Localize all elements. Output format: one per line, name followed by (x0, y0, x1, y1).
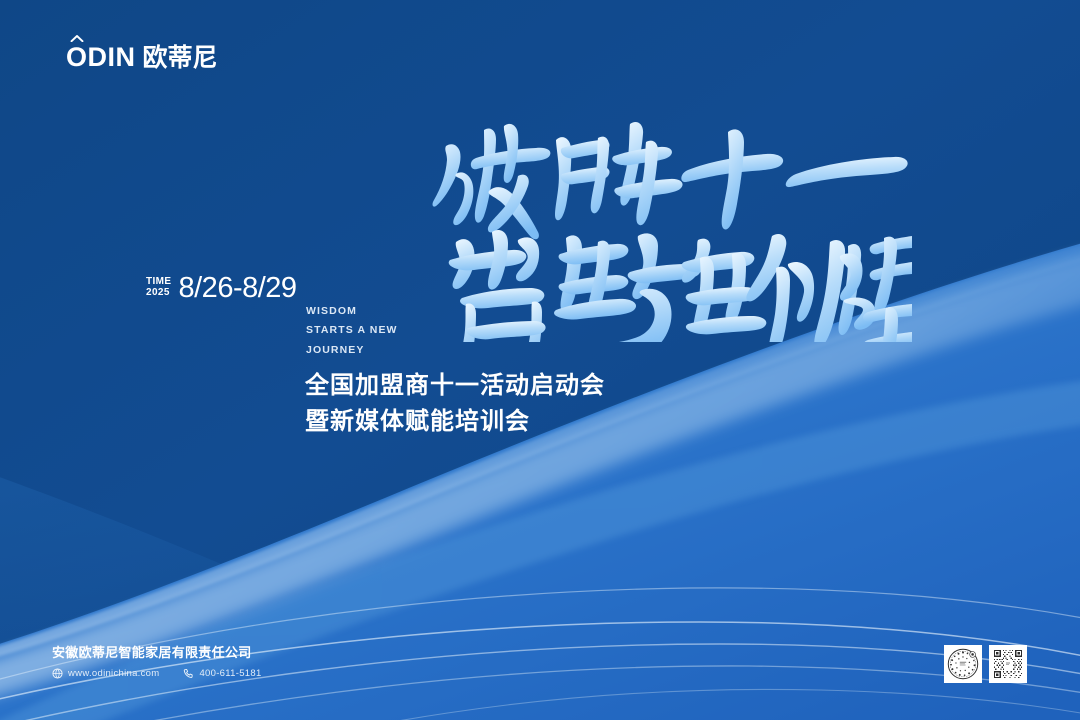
event-poster: O DIN 欧蒂尼 (0, 0, 1080, 720)
tagline-line-1: WISDOM (306, 302, 398, 321)
macron-accent-icon (70, 35, 83, 42)
circular-qr-icon (947, 648, 979, 680)
time-label-year: 2025 (146, 287, 172, 298)
square-qr-icon (992, 648, 1024, 680)
time-label: TIME 2025 (146, 276, 172, 301)
event-date-block: TIME 2025 8/26-8/29 (146, 274, 297, 303)
qr-code-group (944, 645, 1027, 683)
website-text: www.odinichina.com (68, 668, 159, 679)
event-subtitle: 全国加盟商十一活动启动会 暨新媒体赋能培训会 (305, 368, 605, 441)
tagline-line-2: STARTS A NEW (306, 321, 398, 340)
logo-latin-text: O DIN (66, 44, 136, 71)
website-item[interactable]: www.odinichina.com (52, 668, 159, 679)
main-title-calligraphy (432, 112, 912, 342)
brand-logo: O DIN 欧蒂尼 (66, 44, 218, 71)
phone-item[interactable]: 400-611-5181 (183, 668, 261, 679)
background-artwork (0, 0, 1080, 720)
logo-latin-rest: DIN (88, 42, 136, 72)
subtitle-line-1: 全国加盟商十一活动启动会 (305, 368, 605, 404)
globe-icon (52, 668, 63, 679)
phone-text: 400-611-5181 (199, 668, 261, 679)
tagline-line-3: JOURNEY (306, 341, 398, 360)
circular-qr-code[interactable] (944, 645, 982, 683)
square-qr-code[interactable] (989, 645, 1027, 683)
phone-icon (183, 668, 194, 679)
contact-row: www.odinichina.com 400-611-5181 (52, 668, 262, 679)
logo-chinese-text: 欧蒂尼 (143, 46, 218, 71)
logo-o-letter: O (66, 42, 88, 72)
event-date-range: 8/26-8/29 (179, 274, 297, 303)
english-tagline: WISDOM STARTS A NEW JOURNEY (306, 302, 398, 360)
time-label-top: TIME (146, 276, 172, 287)
subtitle-line-2: 暨新媒体赋能培训会 (305, 404, 605, 440)
footer-block: 安徽欧蒂尼智能家居有限责任公司 www.odinichina.com 400-6… (52, 645, 262, 679)
company-name: 安徽欧蒂尼智能家居有限责任公司 (52, 645, 262, 661)
